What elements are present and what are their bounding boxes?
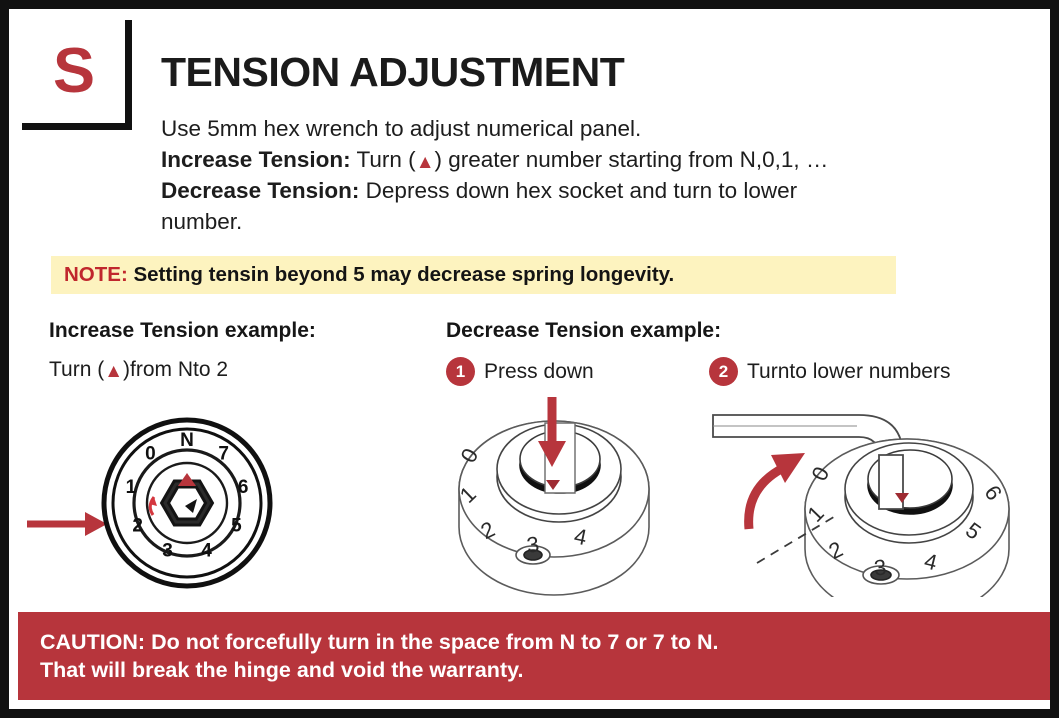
decrease-tension-label: Decrease Tension: (161, 178, 359, 203)
triangle-icon: ▲ (104, 361, 123, 382)
header-instructions: Use 5mm hex wrench to adjust numerical p… (161, 113, 1041, 237)
note-banner: NOTE: Setting tensin beyond 5 may decrea… (51, 256, 896, 294)
svg-text:0: 0 (145, 443, 156, 464)
increase-example-heading: Increase Tension example: (49, 319, 316, 343)
page-title: TENSION ADJUSTMENT (161, 49, 624, 96)
step-letter: S (53, 40, 94, 103)
step-label-1: Press down (484, 360, 594, 384)
note-content: NOTE: Setting tensin beyond 5 may decrea… (51, 263, 674, 287)
decrease-example-heading: Decrease Tension example: (446, 319, 721, 343)
note-text: Setting tensin beyond 5 may decrease spr… (128, 263, 674, 286)
svg-text:N: N (180, 430, 194, 451)
header: S TENSION ADJUSTMENT Use 5mm hex wrench … (9, 9, 1050, 141)
caution-line-2: That will break the hinge and void the w… (18, 656, 1059, 684)
note-label: NOTE: (64, 263, 128, 286)
instruction-line-1: Use 5mm hex wrench to adjust numerical p… (161, 113, 1041, 144)
tension-dial-top-view: N 7 6 5 4 3 2 1 0 (27, 407, 297, 602)
instruction-card: S TENSION ADJUSTMENT Use 5mm hex wrench … (0, 0, 1059, 718)
decrease-step-2: 2 Turnto lower numbers (709, 357, 950, 386)
step-letter-box: S (22, 20, 132, 130)
decrease-tension-text: Depress down hex socket and turn to lowe… (359, 178, 797, 203)
step-badge-1: 1 (446, 357, 475, 386)
svg-text:6: 6 (238, 477, 249, 498)
increase-tension-text-a: Turn ( (351, 147, 416, 172)
increase-tension-text-b: ) greater number starting from N,0,1, … (435, 147, 829, 172)
step-badge-2: 2 (709, 357, 738, 386)
caution-line-1: CAUTION: Do not forcefully turn in the s… (18, 628, 1059, 656)
svg-text:1: 1 (126, 477, 137, 498)
svg-text:3: 3 (873, 554, 888, 580)
increase-tension-label: Increase Tension: (161, 147, 351, 172)
increase-example-sub-b: )from Nto 2 (123, 358, 228, 381)
step-label-2: Turnto lower numbers (747, 360, 950, 384)
svg-text:3: 3 (162, 541, 173, 562)
instruction-line-3: Decrease Tension: Depress down hex socke… (161, 175, 1041, 206)
svg-text:2: 2 (132, 516, 143, 537)
increase-example-sub-a: Turn ( (49, 358, 104, 381)
svg-text:5: 5 (231, 516, 242, 537)
svg-text:7: 7 (218, 443, 229, 464)
caution-footer: CAUTION: Do not forcefully turn in the s… (18, 612, 1059, 700)
hinge-hex-wrench-turn-view: 0 1 2 3 4 5 6 (709, 397, 1029, 597)
instruction-line-2: Increase Tension: Turn (▲) greater numbe… (161, 144, 1041, 175)
red-curved-arrow-icon (749, 453, 805, 529)
hinge-press-down-view: 0 1 2 3 4 (429, 397, 679, 597)
increase-example-subtext: Turn (▲)from Nto 2 (49, 358, 228, 382)
red-arrow-right-icon (27, 512, 107, 536)
decrease-step-1: 1 Press down (446, 357, 594, 386)
instruction-line-4: number. (161, 206, 1041, 237)
svg-text:4: 4 (201, 541, 212, 562)
triangle-icon: ▲ (416, 152, 435, 173)
